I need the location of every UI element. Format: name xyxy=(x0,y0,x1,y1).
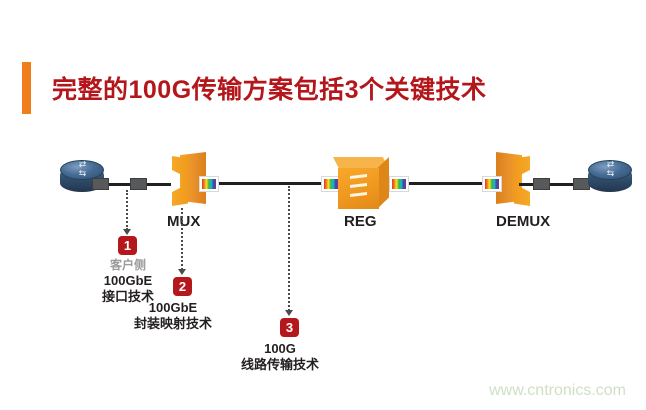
callout-text-2: 100GbE 封装映射技术 xyxy=(108,300,238,332)
callout-3-line2: 100G xyxy=(215,341,345,357)
connector-block-icon-1 xyxy=(92,178,109,190)
link-reg-to-demux xyxy=(409,182,486,185)
demux-front-face xyxy=(514,156,530,206)
callout-badge-2: 2 xyxy=(173,277,192,296)
site-watermark: www.cntronics.com xyxy=(489,382,626,400)
slide-canvas: 完整的100G传输方案包括3个关键技术 ⇄⇆ MUX REG DEMUX xyxy=(0,0,646,410)
leader-arrow-2 xyxy=(178,269,186,275)
link-mux-to-reg xyxy=(219,182,329,185)
page-title: 完整的100G传输方案包括3个关键技术 xyxy=(52,70,487,106)
callout-1-line1: 客户侧 xyxy=(78,258,178,273)
callout-2-line2: 100GbE xyxy=(108,300,238,316)
router-icon-right: ⇄⇆ xyxy=(588,160,632,196)
connector-block-icon-2 xyxy=(130,178,147,190)
wdm-spectrum-icon-demux xyxy=(482,176,502,192)
callout-3-line3: 线路传输技术 xyxy=(215,357,345,373)
wdm-spectrum-icon-reg-out xyxy=(389,176,409,192)
leader-line-3 xyxy=(288,186,290,311)
callout-badge-1: 1 xyxy=(118,236,137,255)
link-block-to-block xyxy=(550,183,573,186)
wdm-spectrum-icon-mux xyxy=(199,176,219,192)
leader-line-1 xyxy=(126,190,128,230)
callout-text-1: 客户侧 100GbE 接口技术 xyxy=(78,258,178,305)
reg-inner-detail xyxy=(344,172,374,205)
router-arrows-glyph: ⇄⇆ xyxy=(60,161,104,179)
callout-1-line2: 100GbE xyxy=(78,273,178,289)
connector-block-icon-3 xyxy=(533,178,550,190)
leader-line-2 xyxy=(181,208,183,270)
regenerator-icon xyxy=(333,157,389,209)
title-accent-bar xyxy=(22,62,31,114)
leader-arrow-1 xyxy=(123,229,131,235)
leader-arrow-3 xyxy=(285,310,293,316)
callout-2-line3: 封装映射技术 xyxy=(108,316,238,332)
router-arrows-glyph: ⇄⇆ xyxy=(588,161,632,179)
device-caption-demux: DEMUX xyxy=(496,213,550,230)
device-caption-mux: MUX xyxy=(167,213,200,230)
link-block-to-mux xyxy=(147,183,171,186)
link-demux-to-block xyxy=(519,183,533,186)
device-caption-reg: REG xyxy=(344,213,377,230)
callout-badge-3: 3 xyxy=(280,318,299,337)
callout-text-3: 100G 线路传输技术 xyxy=(215,341,345,373)
link-router-to-block xyxy=(109,183,130,186)
